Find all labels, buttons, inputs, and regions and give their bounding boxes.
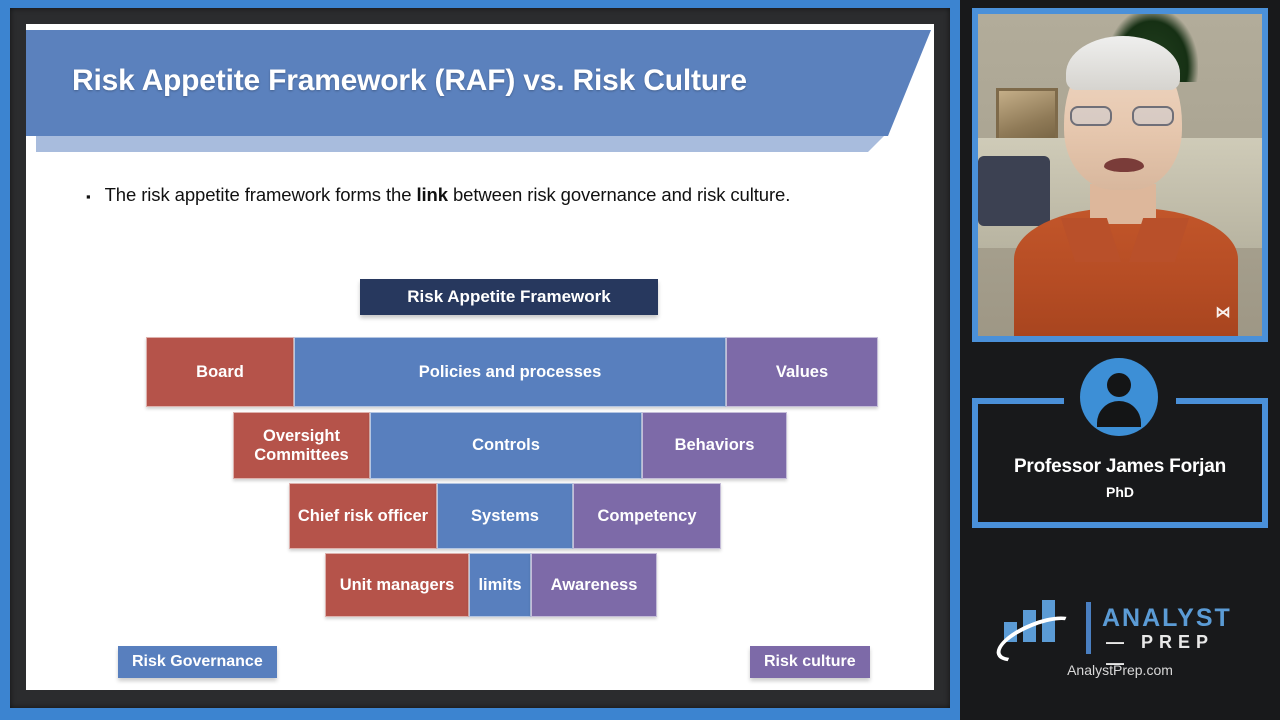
bullet-marker-icon: ▪ xyxy=(86,182,91,212)
bullet-row: ▪ The risk appetite framework forms the … xyxy=(86,182,886,212)
pyramid-cell: Systems xyxy=(437,483,573,549)
slide-title-band: Risk Appetite Framework (RAF) vs. Risk C… xyxy=(26,30,931,136)
avatar-body-shape xyxy=(1097,401,1141,427)
pyramid-row-1: BoardPolicies and processesValues xyxy=(146,337,878,407)
presenter-webcam-frame: ⋈ xyxy=(972,8,1268,342)
pyramid-cell: Board xyxy=(146,337,294,407)
pyramid-row-3: Chief risk officerSystemsCompetency xyxy=(289,483,721,549)
logo-graphic: ANALYST — PREP — xyxy=(994,600,1246,656)
presentation-slide: Risk Appetite Framework (RAF) vs. Risk C… xyxy=(26,24,934,690)
pyramid-cell: Controls xyxy=(370,412,642,479)
webcam-presenter-glasses xyxy=(1070,106,1174,126)
bullet-text-emphasis: link xyxy=(416,184,447,205)
bullet-text-prefix: The risk appetite framework forms the xyxy=(105,184,417,205)
logo-url-text: AnalystPrep.com xyxy=(960,662,1280,678)
presenter-name: Professor James Forjan xyxy=(972,456,1268,478)
presenter-title: PhD xyxy=(972,484,1268,500)
risk-governance-label: Risk Governance xyxy=(118,646,277,678)
user-avatar-icon xyxy=(1080,358,1158,436)
bullet-text-suffix: between risk governance and risk culture… xyxy=(448,184,790,205)
pyramid-cell: limits xyxy=(469,553,531,617)
webcam-presenter-mouth xyxy=(1104,158,1144,172)
pyramid-cell: Awareness xyxy=(531,553,657,617)
risk-culture-label: Risk culture xyxy=(750,646,870,678)
slide-outer-border: Risk Appetite Framework (RAF) vs. Risk C… xyxy=(0,0,960,720)
pyramid-cell: Behaviors xyxy=(642,412,787,479)
pyramid-cell: Oversight Committees xyxy=(233,412,370,479)
video-player-stage: Risk Appetite Framework (RAF) vs. Risk C… xyxy=(0,0,1280,720)
bullet-text: The risk appetite framework forms the li… xyxy=(105,182,791,209)
logo-divider xyxy=(1086,602,1091,654)
webcam-couch-cushion xyxy=(978,156,1050,226)
slide-title-accent-bar xyxy=(36,136,884,152)
presenter-card: Professor James Forjan PhD xyxy=(972,358,1268,536)
sidebar-panel: ⋈ Professor James Forjan PhD ANALYST — P… xyxy=(960,0,1280,720)
pyramid-cell: Competency xyxy=(573,483,721,549)
pyramid-row-2: Oversight CommitteesControlsBehaviors xyxy=(233,412,787,479)
page-title: Risk Appetite Framework (RAF) vs. Risk C… xyxy=(72,64,747,98)
avatar-head-shape xyxy=(1107,373,1131,397)
shirt-brand-logo-icon: ⋈ xyxy=(1206,304,1240,322)
logo-wordmark-primary: ANALYST xyxy=(1102,604,1232,633)
pyramid-cell: Unit managers xyxy=(325,553,469,617)
pyramid-cell: Chief risk officer xyxy=(289,483,437,549)
slide-bezel: Risk Appetite Framework (RAF) vs. Risk C… xyxy=(10,8,950,708)
webcam-orange-polo-shirt xyxy=(1014,208,1238,336)
analystprep-logo: ANALYST — PREP — AnalystPrep.com xyxy=(960,600,1280,680)
pyramid-row-4: Unit managerslimitsAwareness xyxy=(325,553,657,617)
raf-header-box: Risk Appetite Framework xyxy=(360,279,658,315)
pyramid-cell: Values xyxy=(726,337,878,407)
presenter-webcam-video: ⋈ xyxy=(978,14,1262,336)
pyramid-cell: Policies and processes xyxy=(294,337,726,407)
